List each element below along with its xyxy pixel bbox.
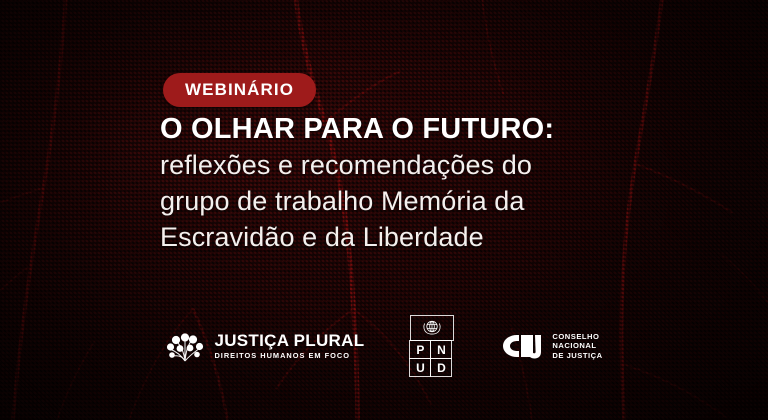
cnj-line-1: CONSELHO [552,333,602,341]
webinar-poster: WEBINÁRIO O OLHAR PARA O FUTURO: reflexõ… [0,0,768,420]
poster-subtitle-line-3: Escravidão e da Liberdade [160,222,484,253]
poster-content: WEBINÁRIO O OLHAR PARA O FUTURO: reflexõ… [0,0,768,420]
webinar-badge: WEBINÁRIO [163,73,316,107]
cnj-line-2: NACIONAL [552,342,602,350]
cnj-line-3: DE JUSTIÇA [552,352,602,360]
pnud-letter-u: U [409,358,431,377]
pnud-letter-p: P [409,340,431,359]
pnud-letter-n: N [430,340,452,359]
dandelion-icon [165,327,205,365]
poster-headline: O OLHAR PARA O FUTURO: [160,113,554,146]
poster-subtitle-line-1: reflexões e recomendações do [160,150,532,181]
logo-pnud: P N U D [410,315,454,377]
justica-plural-text: JUSTIÇA PLURAL DIREITOS HUMANOS EM FOCO [214,332,364,359]
cnj-text: CONSELHO NACIONAL DE JUSTIÇA [552,333,602,360]
logo-justica-plural: JUSTIÇA PLURAL DIREITOS HUMANOS EM FOCO [165,327,364,365]
logo-row: JUSTIÇA PLURAL DIREITOS HUMANOS EM FOCO [0,316,768,376]
pnud-row-bottom: U D [410,359,454,377]
poster-subtitle-line-2: grupo de trabalho Memória da [160,186,525,217]
pnud-letter-d: D [430,358,452,377]
logo-cnj: CONSELHO NACIONAL DE JUSTIÇA [500,331,602,361]
justica-plural-tagline: DIREITOS HUMANOS EM FOCO [214,352,364,359]
pnud-row-top: P N [410,341,454,359]
pnud-letter-grid: P N U D [410,341,454,377]
cnj-monogram-icon [500,331,544,361]
un-emblem-icon [410,315,454,341]
justica-plural-title: JUSTIÇA PLURAL [214,332,364,349]
